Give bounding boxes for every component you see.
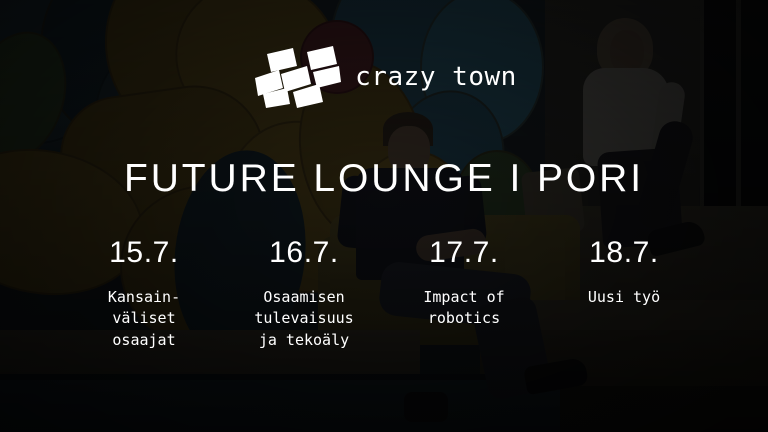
schedule-column-1: 15.7. Kansain- väliset osaajat [74, 236, 214, 351]
schedule-date-4: 18.7. [554, 236, 694, 269]
schedule-description-1: Kansain- väliset osaajat [74, 287, 214, 351]
schedule-column-4: 18.7. Uusi työ [554, 236, 694, 308]
banner-content: crazy town FUTURE LOUNGE I PORI 15.7. Ka… [0, 0, 768, 432]
schedule-date-3: 17.7. [394, 236, 534, 269]
schedule-description-2: Osaamisen tulevaisuus ja tekoäly [234, 287, 374, 351]
crazy-town-wordmark: crazy town [355, 62, 517, 92]
schedule-description-4: Uusi työ [554, 287, 694, 308]
schedule-column-2: 16.7. Osaamisen tulevaisuus ja tekoäly [234, 236, 374, 351]
brand-lockup: crazy town [0, 44, 768, 110]
schedule-date-1: 15.7. [74, 236, 214, 269]
schedule-columns: 15.7. Kansain- väliset osaajat 16.7. Osa… [74, 236, 694, 351]
crazy-town-logo-icon [251, 44, 341, 110]
promo-banner: crazy town FUTURE LOUNGE I PORI 15.7. Ka… [0, 0, 768, 432]
schedule-column-3: 17.7. Impact of robotics [394, 236, 534, 330]
schedule-date-2: 16.7. [234, 236, 374, 269]
page-title: FUTURE LOUNGE I PORI [0, 157, 768, 201]
schedule-description-3: Impact of robotics [394, 287, 534, 330]
